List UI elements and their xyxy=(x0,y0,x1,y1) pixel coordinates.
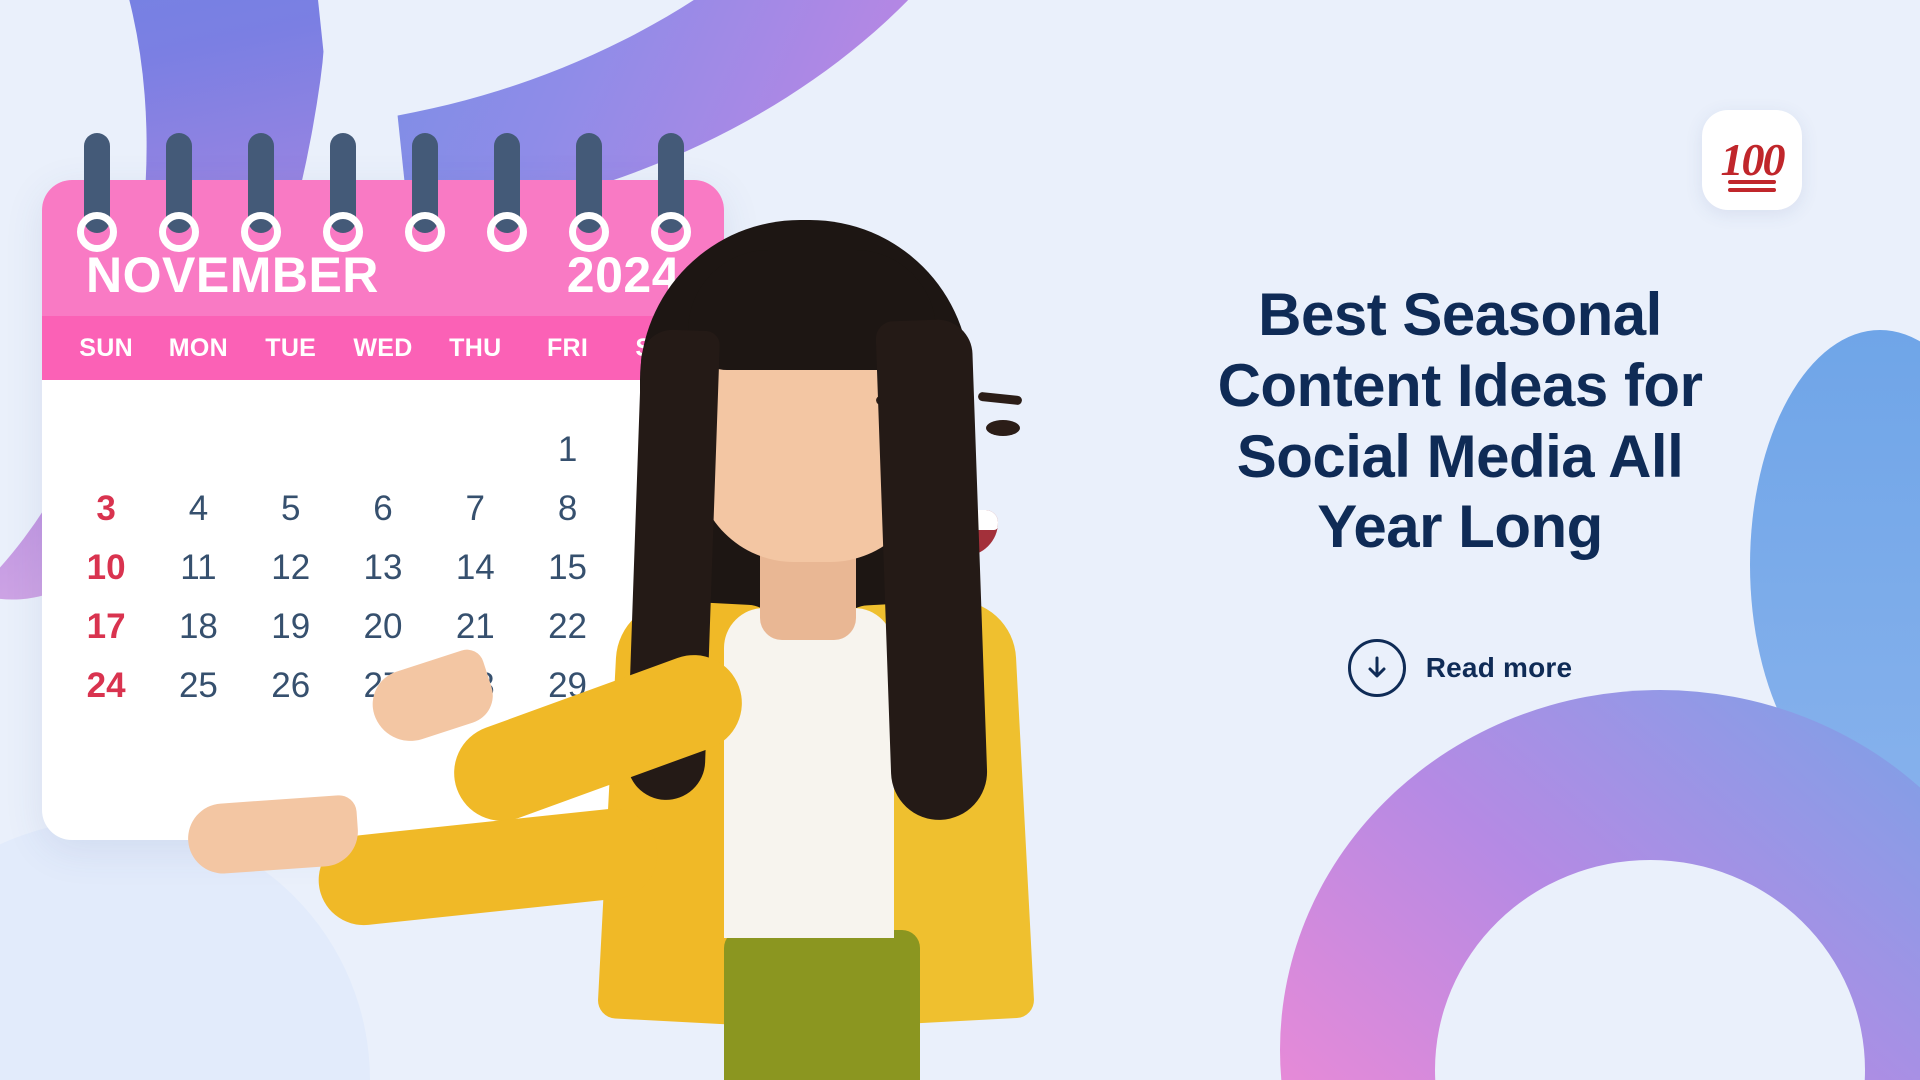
calendar-day-1[interactable]: 1 xyxy=(521,430,613,470)
calendar-day-grid: 1234567891011121314151617181920212223242… xyxy=(42,380,724,715)
mouth xyxy=(922,510,998,556)
hair-fringe xyxy=(688,250,936,370)
skirt xyxy=(724,930,920,1080)
calendar-day-21[interactable]: 21 xyxy=(429,607,521,647)
calendar-day-12[interactable]: 12 xyxy=(245,548,337,588)
calendar-weekday-wed: WED xyxy=(337,334,429,363)
calendar-day-7[interactable]: 7 xyxy=(429,489,521,529)
calendar-day-3[interactable]: 3 xyxy=(60,489,152,529)
calendar-day-20[interactable]: 20 xyxy=(337,607,429,647)
calendar-weekday-fri: FRI xyxy=(521,334,613,363)
calendar-day-4[interactable]: 4 xyxy=(152,489,244,529)
calendar-day-6[interactable]: 6 xyxy=(337,489,429,529)
calendar-day-16[interactable]: 16 xyxy=(614,548,706,588)
teeth xyxy=(922,510,998,530)
calendar-weekday-sat: SAT xyxy=(614,334,706,363)
logo-underline-top xyxy=(1728,180,1776,184)
calendar-day-22[interactable]: 22 xyxy=(521,607,613,647)
calendar-month-label: NOVEMBER xyxy=(86,246,379,304)
calendar-month-header: NOVEMBER 2024 xyxy=(42,180,724,316)
logo-glyph: 100 xyxy=(1721,137,1784,183)
headline-line-0: Best Seasonal xyxy=(1258,281,1662,348)
logo-underline-bottom xyxy=(1728,188,1776,192)
read-more-label: Read more xyxy=(1426,652,1573,684)
eyebrow-left xyxy=(876,392,921,406)
calendar-day-15[interactable]: 15 xyxy=(521,548,613,588)
hundred-points-emoji-icon[interactable]: 100 xyxy=(1702,110,1802,210)
cardigan-right xyxy=(837,598,1035,1027)
eye-right xyxy=(986,420,1020,436)
banner-canvas: NOVEMBER 2024 SUNMONTUEWEDTHUFRISAT 1234… xyxy=(0,0,1920,1080)
calendar-day-2[interactable]: 2 xyxy=(614,430,706,470)
calendar-day-10[interactable]: 10 xyxy=(60,548,152,588)
page-title: Best SeasonalContent Ideas forSocial Med… xyxy=(1100,280,1820,563)
calendar-day-11[interactable]: 11 xyxy=(152,548,244,588)
headline-line-2: Social Media All xyxy=(1237,423,1684,490)
calendar-day-17[interactable]: 17 xyxy=(60,607,152,647)
blob-bottom-left xyxy=(0,820,370,1080)
calendar-card: NOVEMBER 2024 SUNMONTUEWEDTHUFRISAT 1234… xyxy=(42,180,724,840)
calendar-day-19[interactable]: 19 xyxy=(245,607,337,647)
blob-top-arc-cutout xyxy=(273,0,1028,125)
calendar-day-30[interactable]: 30 xyxy=(614,666,706,706)
calendar-day-28[interactable]: 28 xyxy=(429,666,521,706)
calendar-day-14[interactable]: 14 xyxy=(429,548,521,588)
calendar-day-9[interactable]: 9 xyxy=(614,489,706,529)
calendar-weekday-tue: TUE xyxy=(245,334,337,363)
calendar-day-26[interactable]: 26 xyxy=(245,666,337,706)
calendar-year-label: 2024 xyxy=(567,246,680,304)
calendar-day-8[interactable]: 8 xyxy=(521,489,613,529)
eye-left xyxy=(882,420,916,436)
calendar-day-23[interactable]: 23 xyxy=(614,607,706,647)
calendar-day-27[interactable]: 27 xyxy=(337,666,429,706)
calendar-day-24[interactable]: 24 xyxy=(60,666,152,706)
calendar-day-13[interactable]: 13 xyxy=(337,548,429,588)
calendar-day-29[interactable]: 29 xyxy=(521,666,613,706)
blob-bottom-right-ring xyxy=(1280,690,1920,1080)
read-more-button[interactable]: Read more xyxy=(1348,639,1573,697)
headline-line-3: Year Long xyxy=(1317,493,1603,560)
neck xyxy=(760,510,856,640)
shirt xyxy=(724,608,894,938)
eyebrow-right xyxy=(978,392,1023,406)
hair-right xyxy=(875,318,988,821)
blob-bottom-right-ring-hole xyxy=(1435,860,1865,1080)
calendar-day-18[interactable]: 18 xyxy=(152,607,244,647)
calendar-weekday-row: SUNMONTUEWEDTHUFRISAT xyxy=(42,316,724,380)
arrow-down-circle-icon xyxy=(1348,639,1406,697)
calendar-weekday-mon: MON xyxy=(152,334,244,363)
calendar-weekday-sun: SUN xyxy=(60,334,152,363)
calendar-weekday-thu: THU xyxy=(429,334,521,363)
content-column: Best SeasonalContent Ideas forSocial Med… xyxy=(1100,280,1820,697)
calendar-day-5[interactable]: 5 xyxy=(245,489,337,529)
calendar-day-25[interactable]: 25 xyxy=(152,666,244,706)
headline-line-1: Content Ideas for xyxy=(1218,352,1703,419)
face xyxy=(696,262,928,562)
